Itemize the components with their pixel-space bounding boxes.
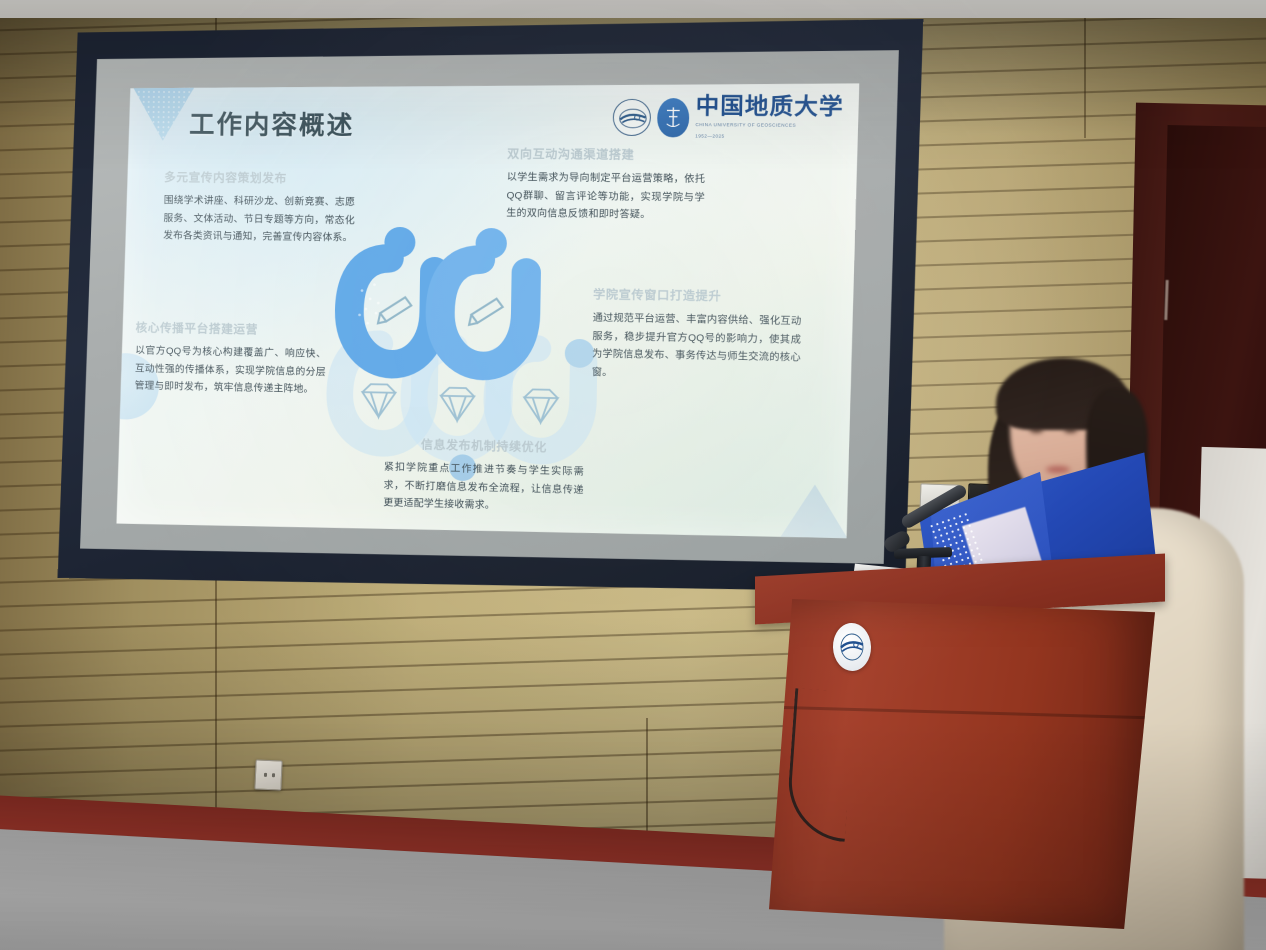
slide-block-window: 学院宣传窗口打造提升 通过规范平台运营、丰富内容供给、强化互动服务，稳步提升官方…: [592, 286, 802, 387]
block-body: 紧扣学院重点工作推进节奏与学生实际需求，不断打磨信息发布全流程，让信息传递更更适…: [383, 459, 584, 518]
block-body: 通过规范平台运营、丰富内容供给、强化互动服务，稳步提升官方QQ号的影响力，使其成…: [592, 309, 802, 386]
triangle-decoration-icon: [772, 483, 857, 543]
block-heading: 信息发布机制持续优化: [384, 435, 584, 456]
block-heading: 多元宣传内容策划发布: [164, 169, 356, 187]
block-heading: 学院宣传窗口打造提升: [593, 286, 802, 306]
power-outlet[interactable]: [254, 759, 282, 790]
block-body: 以学生需求为导向制定平台运营策略，依托QQ群聊、留言评论等功能，实现学院与学生的…: [506, 169, 705, 226]
presentation-slide: 工作内容概述 中国地质大学: [116, 80, 859, 544]
pencil-icon: [378, 297, 411, 324]
conference-room-scene: 工作内容概述 中国地质大学: [0, 0, 1266, 950]
triangle-decoration-icon: [131, 84, 196, 141]
slide-block-platform: 核心传播平台搭建运营 以官方QQ号为核心构建覆盖广、响应快、互动性强的传播体系，…: [135, 319, 327, 399]
university-name: 中国地质大学: [696, 95, 844, 119]
slide-block-mechanism: 信息发布机制持续优化 紧扣学院重点工作推进节奏与学生实际需求，不断打磨信息发布全…: [383, 435, 584, 518]
university-subline-en: CHINA UNIVERSITY OF GEOSCIENCES: [695, 122, 843, 130]
university-subline-years: 1952—2025: [695, 133, 843, 141]
university-logo: 中国地质大学 CHINA UNIVERSITY OF GEOSCIENCES 1…: [612, 95, 843, 141]
slide-block-content: 多元宣传内容策划发布 围绕学术讲座、科研沙龙、创新竞赛、志愿服务、文体活动、节日…: [163, 169, 356, 248]
projection-screen: 工作内容概述 中国地质大学: [58, 18, 924, 604]
slide-title: 工作内容概述: [189, 105, 355, 142]
block-body: 以官方QQ号为核心构建覆盖广、响应快、互动性强的传播体系，实现学院信息的分层管理…: [135, 342, 327, 399]
block-heading: 核心传播平台搭建运营: [136, 319, 327, 338]
block-body: 围绕学术讲座、科研沙龙、创新竞赛、志愿服务、文体活动、节日专题等方向，常态化发布…: [163, 192, 355, 248]
diamond-icon: [441, 388, 475, 421]
block-heading: 双向互动沟通渠道搭建: [507, 145, 706, 163]
slide-block-channel: 双向互动沟通渠道搭建 以学生需求为导向制定平台运营策略，依托QQ群聊、留言评论等…: [506, 145, 706, 225]
diamond-icon: [524, 389, 558, 422]
diamond-icon: [362, 384, 395, 417]
university-badge-icon: [657, 98, 689, 137]
pencil-icon: [469, 298, 503, 325]
university-seal-icon: [613, 98, 652, 135]
